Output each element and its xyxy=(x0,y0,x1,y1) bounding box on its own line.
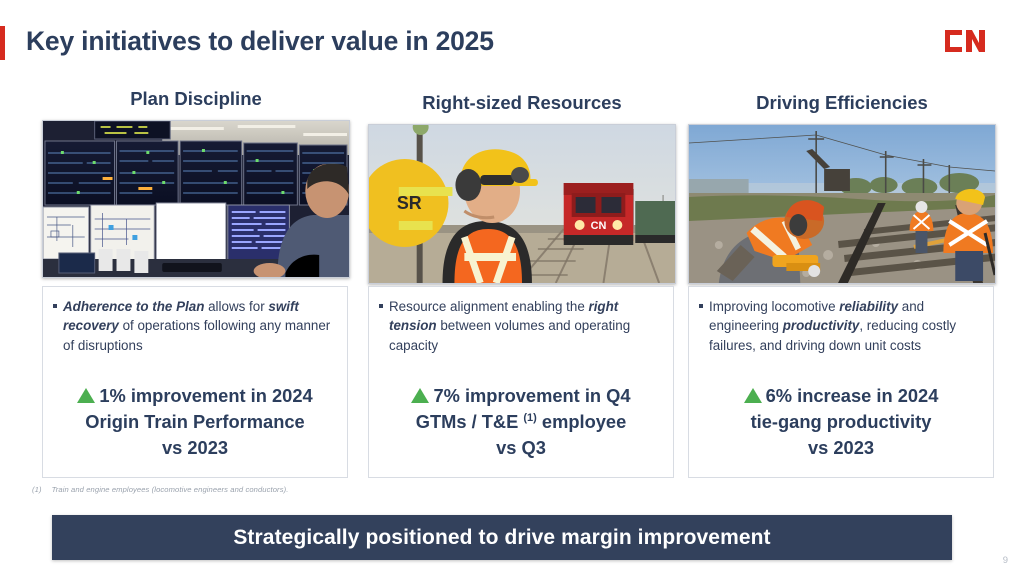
bullet-text-1: Adherence to the Plan allows for swift r… xyxy=(63,297,337,355)
highlight-line-2b-post: employee xyxy=(537,411,626,432)
footnote-text: Train and engine employees (locomotive e… xyxy=(52,485,289,494)
photo-yard-worker-locomotive: CN SR xyxy=(368,124,676,284)
red-accent-bar xyxy=(0,26,5,60)
bullet-square-icon xyxy=(53,304,57,308)
bullet-square-icon xyxy=(699,304,703,308)
highlight-line-3a: 6% increase in 2024 xyxy=(766,385,939,406)
cn-logo-icon xyxy=(942,28,988,54)
bullet-text-2: Resource alignment enabling the right te… xyxy=(389,297,663,355)
svg-text:SR: SR xyxy=(397,192,422,212)
bullet-item-1: Adherence to the Plan allows for swift r… xyxy=(53,297,337,355)
bullet-item-3: Improving locomotive reliability and eng… xyxy=(699,297,983,355)
bullet-text-3: Improving locomotive reliability and eng… xyxy=(709,297,983,355)
highlight-line-1a: 1% improvement in 2024 xyxy=(99,385,312,406)
column-heading-2: Right-sized Resources xyxy=(368,88,676,113)
text-card-3: Improving locomotive reliability and eng… xyxy=(688,286,994,478)
column-driving-efficiencies: Driving Efficiencies xyxy=(688,88,996,284)
column-heading-1: Plan Discipline xyxy=(42,88,350,109)
footnote-marker-superscript: (1) xyxy=(523,412,536,424)
highlight-line-1b: Origin Train Performance xyxy=(49,409,341,435)
svg-text:CN: CN xyxy=(591,219,607,231)
highlight-stat-3: 6% increase in 2024 tie-gang productivit… xyxy=(695,383,987,461)
green-up-triangle-icon xyxy=(744,388,762,403)
column-heading-3: Driving Efficiencies xyxy=(688,88,996,113)
highlight-line-3c: vs 2023 xyxy=(695,435,987,461)
page-title: Key initiatives to deliver value in 2025 xyxy=(26,26,494,57)
footnote: (1)Train and engine employees (locomotiv… xyxy=(32,485,288,494)
bottom-banner: Strategically positioned to drive margin… xyxy=(52,515,952,560)
text-card-2: Resource alignment enabling the right te… xyxy=(368,286,674,478)
bullet-item-2: Resource alignment enabling the right te… xyxy=(379,297,663,355)
highlight-line-2c: vs Q3 xyxy=(375,435,667,461)
highlight-line-3b: tie-gang productivity xyxy=(695,409,987,435)
green-up-triangle-icon xyxy=(77,388,95,403)
green-up-triangle-icon xyxy=(411,388,429,403)
highlight-line-2a: 7% improvement in Q4 xyxy=(433,385,630,406)
column-right-sized-resources: Right-sized Resources xyxy=(368,88,676,284)
bullet-square-icon xyxy=(379,304,383,308)
footnote-marker: (1) xyxy=(32,485,42,494)
photo-track-maintenance-crew xyxy=(688,124,996,284)
highlight-line-1c: vs 2023 xyxy=(49,435,341,461)
highlight-line-2b: GTMs / T&E (1) employee xyxy=(375,409,667,435)
photo-control-center xyxy=(42,120,350,278)
column-plan-discipline: Plan Discipline xyxy=(42,88,350,278)
highlight-line-2b-pre: GTMs / T&E xyxy=(416,411,524,432)
banner-text: Strategically positioned to drive margin… xyxy=(233,526,770,550)
slide-root: Key initiatives to deliver value in 2025… xyxy=(0,0,1024,576)
text-card-1: Adherence to the Plan allows for swift r… xyxy=(42,286,348,478)
highlight-stat-2: 7% improvement in Q4 GTMs / T&E (1) empl… xyxy=(375,383,667,461)
page-number: 9 xyxy=(1003,555,1008,566)
highlight-stat-1: 1% improvement in 2024 Origin Train Perf… xyxy=(49,383,341,461)
